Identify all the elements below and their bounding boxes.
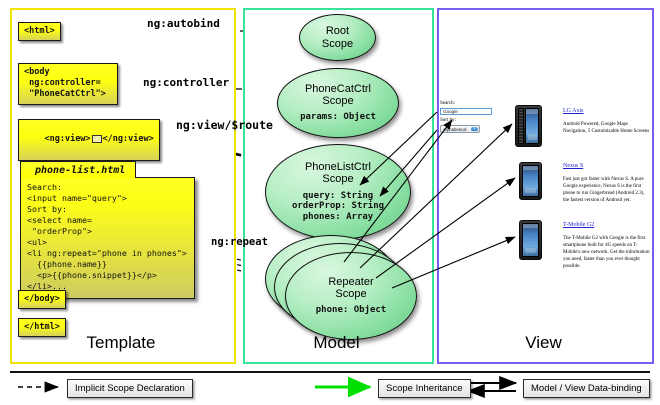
legend-item-data-binding: Model / View Data-binding — [523, 379, 650, 398]
diagram-canvas: Template Model View — [0, 0, 660, 405]
connector-label-ng-view-route: ng:view/$route — [176, 118, 273, 132]
connector-label-ng-controller: ng:controller — [143, 76, 229, 89]
connector-label-ng-repeat: ng:repeat — [211, 236, 268, 248]
legend-arrow-layer — [0, 0, 660, 405]
connector-label-ng-autobind: ng:autobind — [147, 17, 220, 30]
legend-item-implicit-scope: Implicit Scope Declaration — [67, 379, 193, 398]
legend-item-scope-inheritance: Scope Inheritance — [378, 379, 471, 398]
